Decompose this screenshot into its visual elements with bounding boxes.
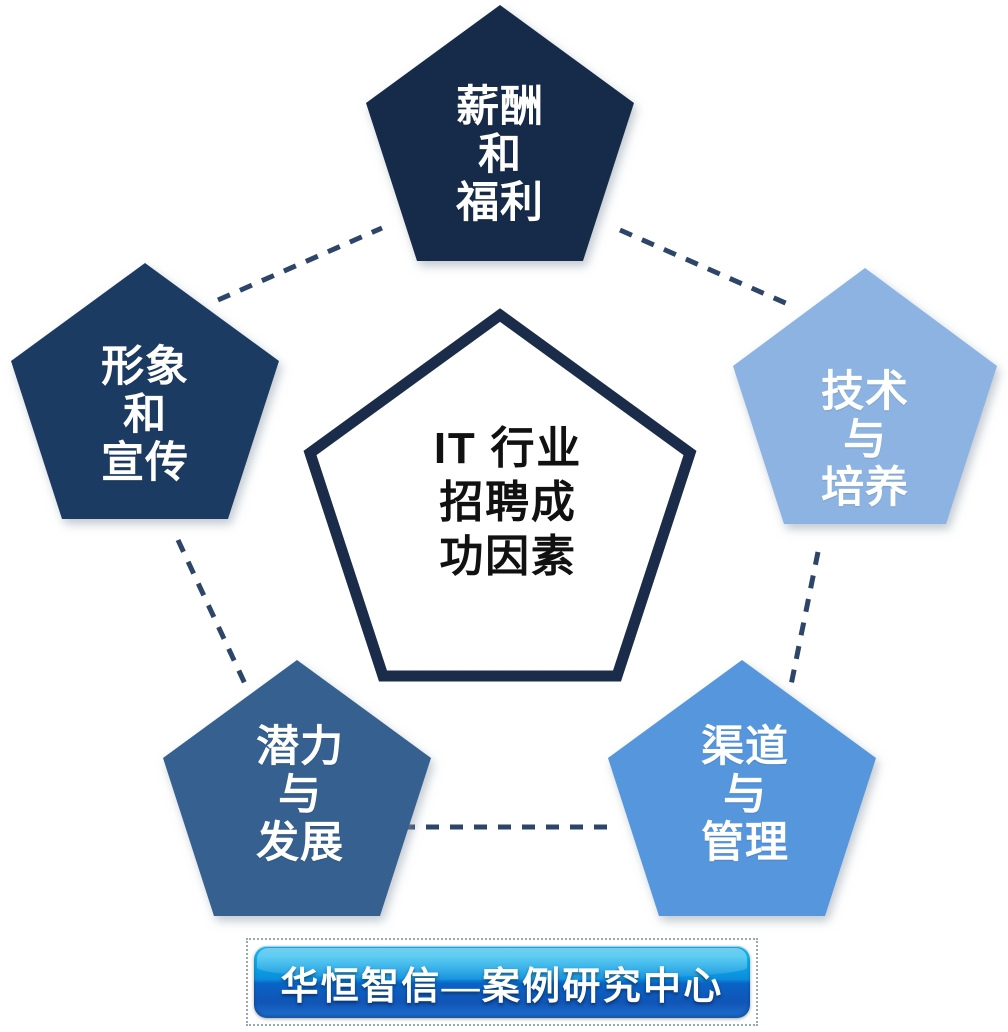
pentagon-center-success-factors[interactable] <box>310 315 690 676</box>
connector-top-to-right <box>620 230 790 305</box>
diagram-canvas: 薪酬 和 福利 形象 和 宣传 技术 与 培养 潜力 与 发展 渠道 与 管理 … <box>0 0 1008 1032</box>
pentagon-compensation-benefits[interactable] <box>366 5 634 261</box>
connector-right-to-bottomright <box>790 552 818 690</box>
pentagon-potential-development[interactable] <box>163 660 431 916</box>
pentagon-channels-management[interactable] <box>608 660 876 916</box>
pentagon-technology-training[interactable] <box>733 268 997 524</box>
banner-selection-frame[interactable]: 华恒智信—案例研究中心 <box>246 938 758 1026</box>
connector-left-to-top <box>218 228 382 300</box>
source-banner[interactable]: 华恒智信—案例研究中心 <box>254 946 750 1018</box>
banner-text: 华恒智信—案例研究中心 <box>280 955 723 1010</box>
pentagon-cycle-diagram <box>0 0 1008 1032</box>
pentagon-image-promotion[interactable] <box>11 263 279 519</box>
connector-left-to-bottomleft <box>178 540 246 686</box>
